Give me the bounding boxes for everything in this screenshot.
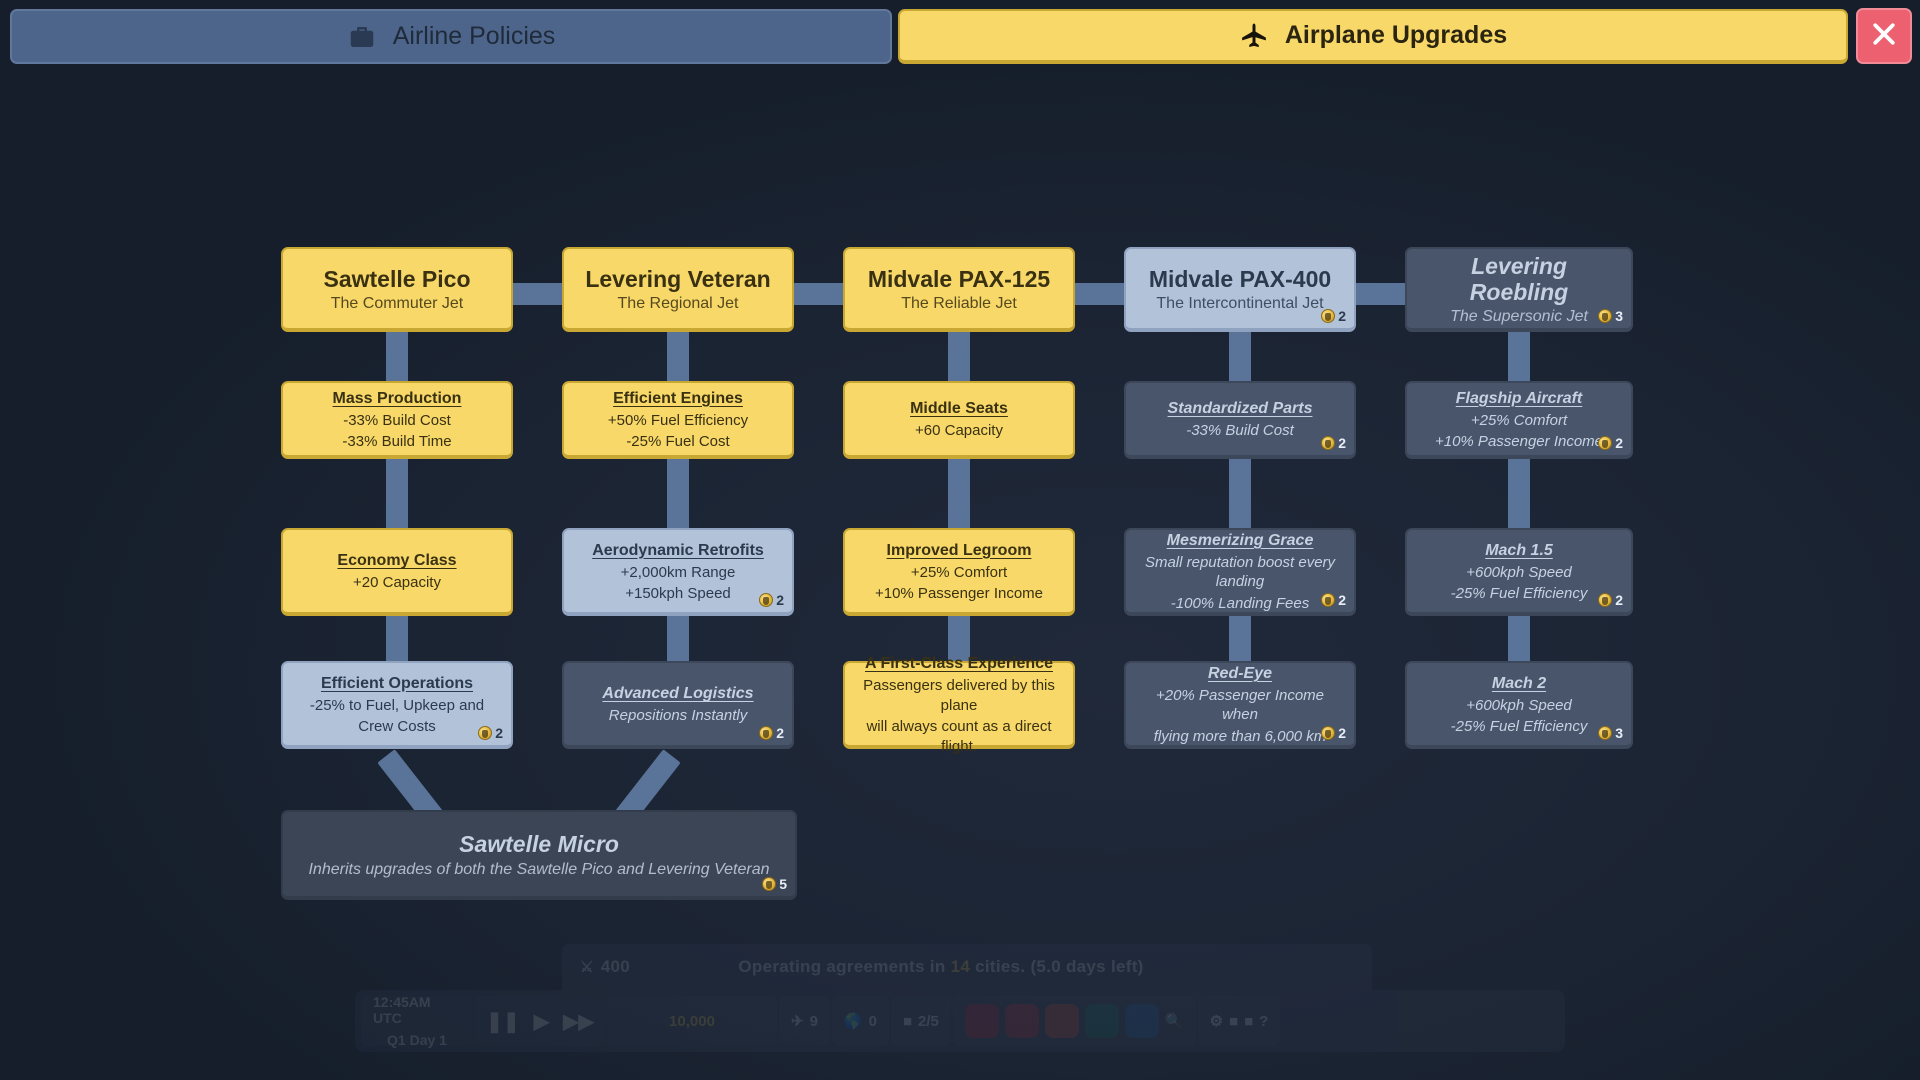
tree-connector (1508, 328, 1530, 385)
upgrade-card-line: +25% Comfort (911, 563, 1007, 583)
upgrade-card-line: Crew Costs (358, 717, 436, 737)
plane-card-name: Sawtelle Pico (323, 266, 470, 292)
tree-connector (1071, 283, 1128, 305)
upgrade-card-line: -33% Build Cost (343, 411, 451, 431)
upgrade-cost-value: 2 (1338, 435, 1346, 451)
upgrade-card-line: +20 Capacity (353, 573, 441, 593)
upgrade-cost-value: 3 (1615, 725, 1623, 741)
plane-card[interactable]: Midvale PAX-125The Reliable Jet (843, 247, 1075, 332)
research-point-icon (1321, 726, 1335, 740)
upgrade-card[interactable]: Red-Eye+20% Passenger Income whenflying … (1124, 661, 1356, 749)
tree-connector (386, 328, 408, 385)
research-point-icon (478, 726, 492, 740)
upgrade-card[interactable]: Economy Class+20 Capacity (281, 528, 513, 616)
research-point-icon (762, 877, 776, 891)
upgrade-cost-value: 2 (776, 592, 784, 608)
upgrade-card-line: Repositions Instantly (609, 706, 747, 726)
upgrade-card[interactable]: Mach 2+600kph Speed-25% Fuel Efficiency3 (1405, 661, 1633, 749)
upgrade-card[interactable]: Aerodynamic Retrofits+2,000km Range+150k… (562, 528, 794, 616)
upgrade-cost-value: 3 (1615, 308, 1623, 324)
upgrade-card-line: -33% Build Cost (1186, 421, 1294, 441)
upgrade-card-title: Efficient Engines (613, 389, 743, 409)
tree-connector (1229, 612, 1251, 665)
upgrade-card-line: +10% Passenger Income (875, 584, 1043, 604)
airplane-upgrades-screen: ⚔ 400 Operating agreements in 14 cities.… (0, 0, 1920, 1080)
tree-connector (1229, 455, 1251, 532)
upgrade-card-line: -100% Landing Fees (1171, 594, 1309, 614)
upgrade-cost-value: 2 (495, 725, 503, 741)
tree-connector (667, 328, 689, 385)
upgrade-card-title: Efficient Operations (321, 674, 473, 694)
upgrade-cost: 2 (478, 725, 503, 741)
upgrade-cost: 3 (1598, 725, 1623, 741)
upgrade-card-line: +600kph Speed (1466, 696, 1572, 716)
upgrade-cost: 3 (1598, 308, 1623, 324)
plane-card-subtitle: The Intercontinental Jet (1156, 295, 1323, 313)
upgrade-card-title: A First-Class Experience (865, 654, 1053, 674)
upgrade-card[interactable]: Mach 1.5+600kph Speed-25% Fuel Efficienc… (1405, 528, 1633, 616)
upgrade-cost: 2 (759, 725, 784, 741)
plane-card-name: Levering Veteran (585, 266, 770, 292)
upgrade-card-title: Mach 1.5 (1485, 541, 1553, 561)
research-point-icon (759, 726, 773, 740)
upgrade-card[interactable]: Efficient Engines+50% Fuel Efficiency-25… (562, 381, 794, 459)
upgrade-card[interactable]: Middle Seats+60 Capacity (843, 381, 1075, 459)
upgrade-card-title: Mass Production (333, 389, 462, 409)
research-point-icon (1598, 436, 1612, 450)
upgrade-card-line: +10% Passenger Income (1435, 432, 1603, 452)
upgrade-card-line: +60 Capacity (915, 421, 1003, 441)
merged-plane-name: Sawtelle Micro (459, 831, 619, 857)
upgrade-cost-value: 2 (1338, 308, 1346, 324)
tree-connector (948, 328, 970, 385)
tree-connector (667, 455, 689, 532)
upgrade-cost-value: 2 (1338, 592, 1346, 608)
upgrade-card-title: Mach 2 (1492, 674, 1546, 694)
tree-connector (948, 455, 970, 532)
plane-card-subtitle: The Regional Jet (618, 295, 739, 313)
tree-connector (667, 612, 689, 665)
upgrade-card-line: -25% to Fuel, Upkeep and (310, 696, 484, 716)
upgrade-cost: 2 (1321, 308, 1346, 324)
plane-card-subtitle: The Commuter Jet (331, 295, 463, 313)
upgrade-cost-value: 2 (1615, 592, 1623, 608)
upgrade-cost: 5 (762, 876, 787, 892)
upgrade-card[interactable]: Mass Production-33% Build Cost-33% Build… (281, 381, 513, 459)
upgrade-cost: 2 (1321, 435, 1346, 451)
upgrade-card-line: Passengers delivered by this plane (857, 676, 1061, 715)
merged-plane-subtitle: Inherits upgrades of both the Sawtelle P… (308, 861, 769, 879)
upgrade-card-line: -25% Fuel Efficiency (1451, 584, 1588, 604)
tree-connector (790, 283, 847, 305)
upgrade-card-line: +25% Comfort (1471, 411, 1567, 431)
upgrade-card-title: Economy Class (337, 551, 456, 571)
tree-connector (1508, 612, 1530, 665)
upgrade-card-title: Flagship Aircraft (1456, 389, 1583, 409)
tree-connector (1229, 328, 1251, 385)
upgrade-card-title: Middle Seats (910, 399, 1008, 419)
upgrade-cost: 2 (1598, 435, 1623, 451)
upgrade-cost-value: 2 (1338, 725, 1346, 741)
upgrade-card-line: +20% Passenger Income when (1138, 686, 1342, 725)
merged-plane-card[interactable]: Sawtelle MicroInherits upgrades of both … (281, 810, 797, 900)
upgrade-card-line: -33% Build Time (342, 432, 451, 452)
upgrade-card[interactable]: Efficient Operations-25% to Fuel, Upkeep… (281, 661, 513, 749)
upgrade-cost: 2 (1321, 725, 1346, 741)
upgrade-card[interactable]: Flagship Aircraft+25% Comfort+10% Passen… (1405, 381, 1633, 459)
research-point-icon (1321, 436, 1335, 450)
research-point-icon (1321, 309, 1335, 323)
upgrade-cost: 2 (759, 592, 784, 608)
tree-connector (1352, 283, 1409, 305)
upgrade-card-line: +150kph Speed (625, 584, 731, 604)
upgrade-card-title: Improved Legroom (887, 541, 1032, 561)
upgrade-card[interactable]: Mesmerizing GraceSmall reputation boost … (1124, 528, 1356, 616)
research-point-icon (1598, 593, 1612, 607)
research-point-icon (1598, 309, 1612, 323)
upgrade-card-title: Aerodynamic Retrofits (592, 541, 764, 561)
plane-card[interactable]: Levering RoeblingThe Supersonic Jet3 (1405, 247, 1633, 332)
upgrade-cost-value: 2 (776, 725, 784, 741)
upgrade-card-line: -25% Fuel Efficiency (1451, 717, 1588, 737)
upgrade-tree: Sawtelle PicoThe Commuter JetMass Produc… (0, 0, 1920, 1080)
upgrade-card-title: Red-Eye (1208, 664, 1272, 684)
upgrade-card-line: +50% Fuel Efficiency (608, 411, 748, 431)
upgrade-card[interactable]: Advanced LogisticsRepositions Instantly2 (562, 661, 794, 749)
tree-connector (509, 283, 566, 305)
plane-card[interactable]: Midvale PAX-400The Intercontinental Jet2 (1124, 247, 1356, 332)
plane-card-subtitle: The Reliable Jet (901, 295, 1017, 313)
tree-connector (386, 612, 408, 665)
upgrade-cost-value: 5 (779, 876, 787, 892)
plane-card[interactable]: Sawtelle PicoThe Commuter Jet (281, 247, 513, 332)
upgrade-card-line: -25% Fuel Cost (626, 432, 729, 452)
upgrade-card-title: Advanced Logistics (602, 684, 753, 704)
tree-connector (386, 455, 408, 532)
tree-connector (1508, 455, 1530, 532)
research-point-icon (1598, 726, 1612, 740)
plane-card-name: Midvale PAX-400 (1149, 266, 1331, 292)
upgrade-card-line: Small reputation boost every landing (1138, 553, 1342, 592)
upgrade-cost: 2 (1321, 592, 1346, 608)
research-point-icon (759, 593, 773, 607)
plane-card[interactable]: Levering VeteranThe Regional Jet (562, 247, 794, 332)
plane-card-subtitle: The Supersonic Jet (1450, 308, 1588, 326)
upgrade-card[interactable]: Standardized Parts-33% Build Cost2 (1124, 381, 1356, 459)
upgrade-card-title: Mesmerizing Grace (1167, 531, 1314, 551)
upgrade-cost-value: 2 (1615, 435, 1623, 451)
plane-card-name: Levering Roebling (1419, 253, 1619, 306)
upgrade-card[interactable]: Improved Legroom+25% Comfort+10% Passeng… (843, 528, 1075, 616)
upgrade-cost: 2 (1598, 592, 1623, 608)
plane-card-name: Midvale PAX-125 (868, 266, 1050, 292)
upgrade-card-line: will always count as a direct flight. (857, 717, 1061, 756)
upgrade-card[interactable]: A First-Class ExperiencePassengers deliv… (843, 661, 1075, 749)
upgrade-card-line: +600kph Speed (1466, 563, 1572, 583)
research-point-icon (1321, 593, 1335, 607)
upgrade-card-title: Standardized Parts (1168, 399, 1313, 419)
upgrade-card-line: +2,000km Range (621, 563, 736, 583)
upgrade-card-line: flying more than 6,000 km (1154, 727, 1327, 747)
